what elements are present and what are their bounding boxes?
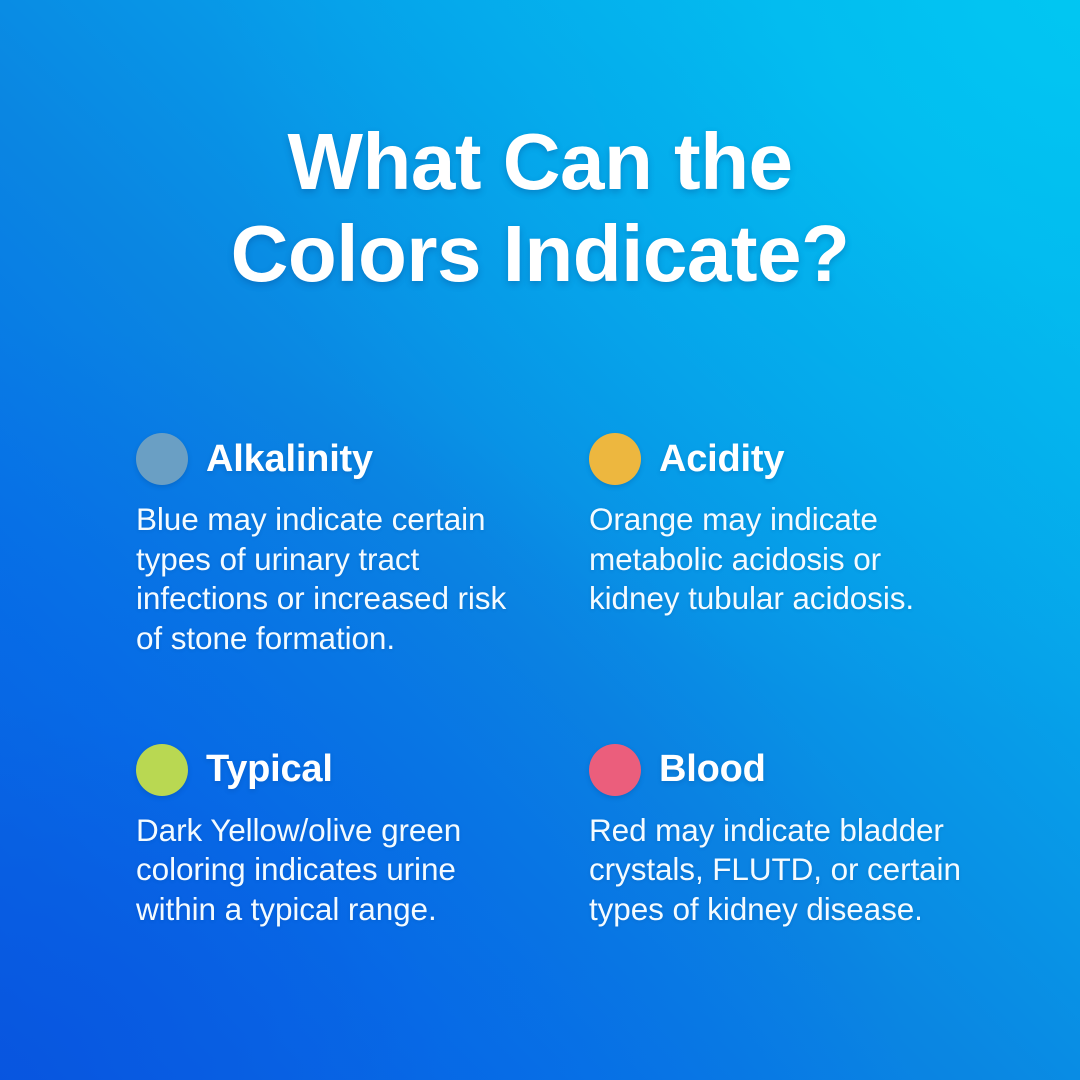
color-item-description: Red may indicate bladder crystals, FLUTD… — [589, 811, 976, 930]
blood-color-dot-icon — [589, 744, 641, 796]
color-item-blood: Blood Red may indicate bladder crystals,… — [556, 743, 976, 961]
acidity-color-dot-icon — [589, 433, 641, 485]
color-item-header: Alkalinity — [136, 432, 556, 486]
color-item-description: Dark Yellow/olive green coloring indicat… — [136, 811, 536, 930]
typical-color-dot-icon — [136, 744, 188, 796]
grid-row-bottom: Typical Dark Yellow/olive green coloring… — [136, 743, 976, 961]
color-item-description: Blue may indicate certain types of urina… — [136, 500, 536, 658]
color-indicator-grid: Alkalinity Blue may indicate certain typ… — [136, 432, 976, 961]
color-item-alkalinity: Alkalinity Blue may indicate certain typ… — [136, 432, 556, 690]
color-item-header: Blood — [589, 743, 976, 797]
page-title: What Can the Colors Indicate? — [0, 116, 1080, 302]
color-item-label: Acidity — [659, 438, 784, 481]
color-item-label: Blood — [659, 748, 766, 791]
color-item-description: Orange may indicate metabolic acidosis o… — [589, 500, 976, 619]
page-title-line-2: Colors Indicate? — [0, 208, 1080, 301]
page-title-line-1: What Can the — [0, 116, 1080, 209]
color-item-label: Alkalinity — [206, 438, 373, 481]
grid-row-top: Alkalinity Blue may indicate certain typ… — [136, 432, 976, 690]
infographic-content: What Can the Colors Indicate? Alkalinity… — [0, 0, 1080, 1080]
color-item-header: Typical — [136, 743, 556, 797]
color-item-label: Typical — [206, 748, 333, 791]
color-item-acidity: Acidity Orange may indicate metabolic ac… — [556, 432, 976, 690]
color-item-typical: Typical Dark Yellow/olive green coloring… — [136, 743, 556, 961]
infographic-canvas: What Can the Colors Indicate? Alkalinity… — [0, 0, 1080, 1080]
color-item-header: Acidity — [589, 432, 976, 486]
alkalinity-color-dot-icon — [136, 433, 188, 485]
